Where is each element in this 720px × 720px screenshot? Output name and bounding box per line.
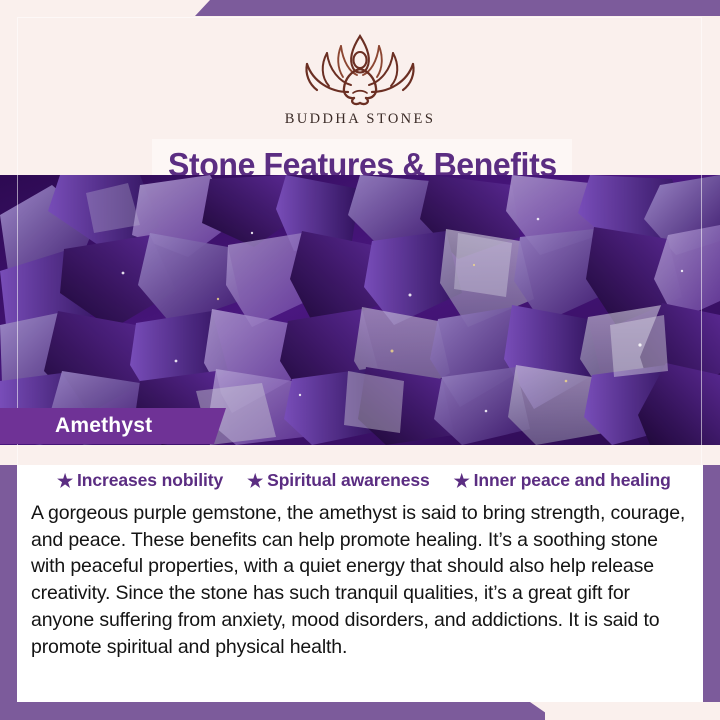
benefit-item: ★ Spiritual awareness [247, 470, 430, 491]
amethyst-crystal-cluster-photo [0, 175, 720, 445]
star-icon: ★ [57, 472, 73, 490]
benefit-item: ★ Inner peace and healing [454, 470, 671, 491]
star-icon: ★ [454, 472, 470, 490]
infographic-page: BUDDHA STONES Stone Features & Benefits [0, 0, 720, 720]
header: BUDDHA STONES Stone Features & Benefits [0, 16, 720, 175]
brand-logo: BUDDHA STONES [0, 30, 720, 128]
lotus-meditation-icon [293, 30, 427, 108]
benefit-item: ★ Increases nobility [57, 470, 223, 491]
brand-name: BUDDHA STONES [0, 111, 720, 128]
frame-bottom-bar [0, 702, 556, 720]
benefits-list: ★ Increases nobility ★ Spiritual awarene… [57, 465, 703, 491]
stone-name-tag: Amethyst [0, 408, 226, 444]
frame-bottom-right-notch [545, 702, 720, 720]
cream-divider-strip [0, 445, 720, 465]
frame-top-bar [195, 0, 720, 16]
benefit-label: Inner peace and healing [474, 470, 671, 491]
benefit-label: Spiritual awareness [267, 470, 429, 491]
stone-name-label: Amethyst [55, 414, 152, 438]
stone-description: A gorgeous purple gemstone, the amethyst… [31, 500, 687, 660]
star-icon: ★ [247, 472, 263, 490]
content-panel: ★ Increases nobility ★ Spiritual awarene… [17, 465, 703, 702]
benefit-label: Increases nobility [77, 470, 223, 491]
hero-image [0, 175, 720, 445]
